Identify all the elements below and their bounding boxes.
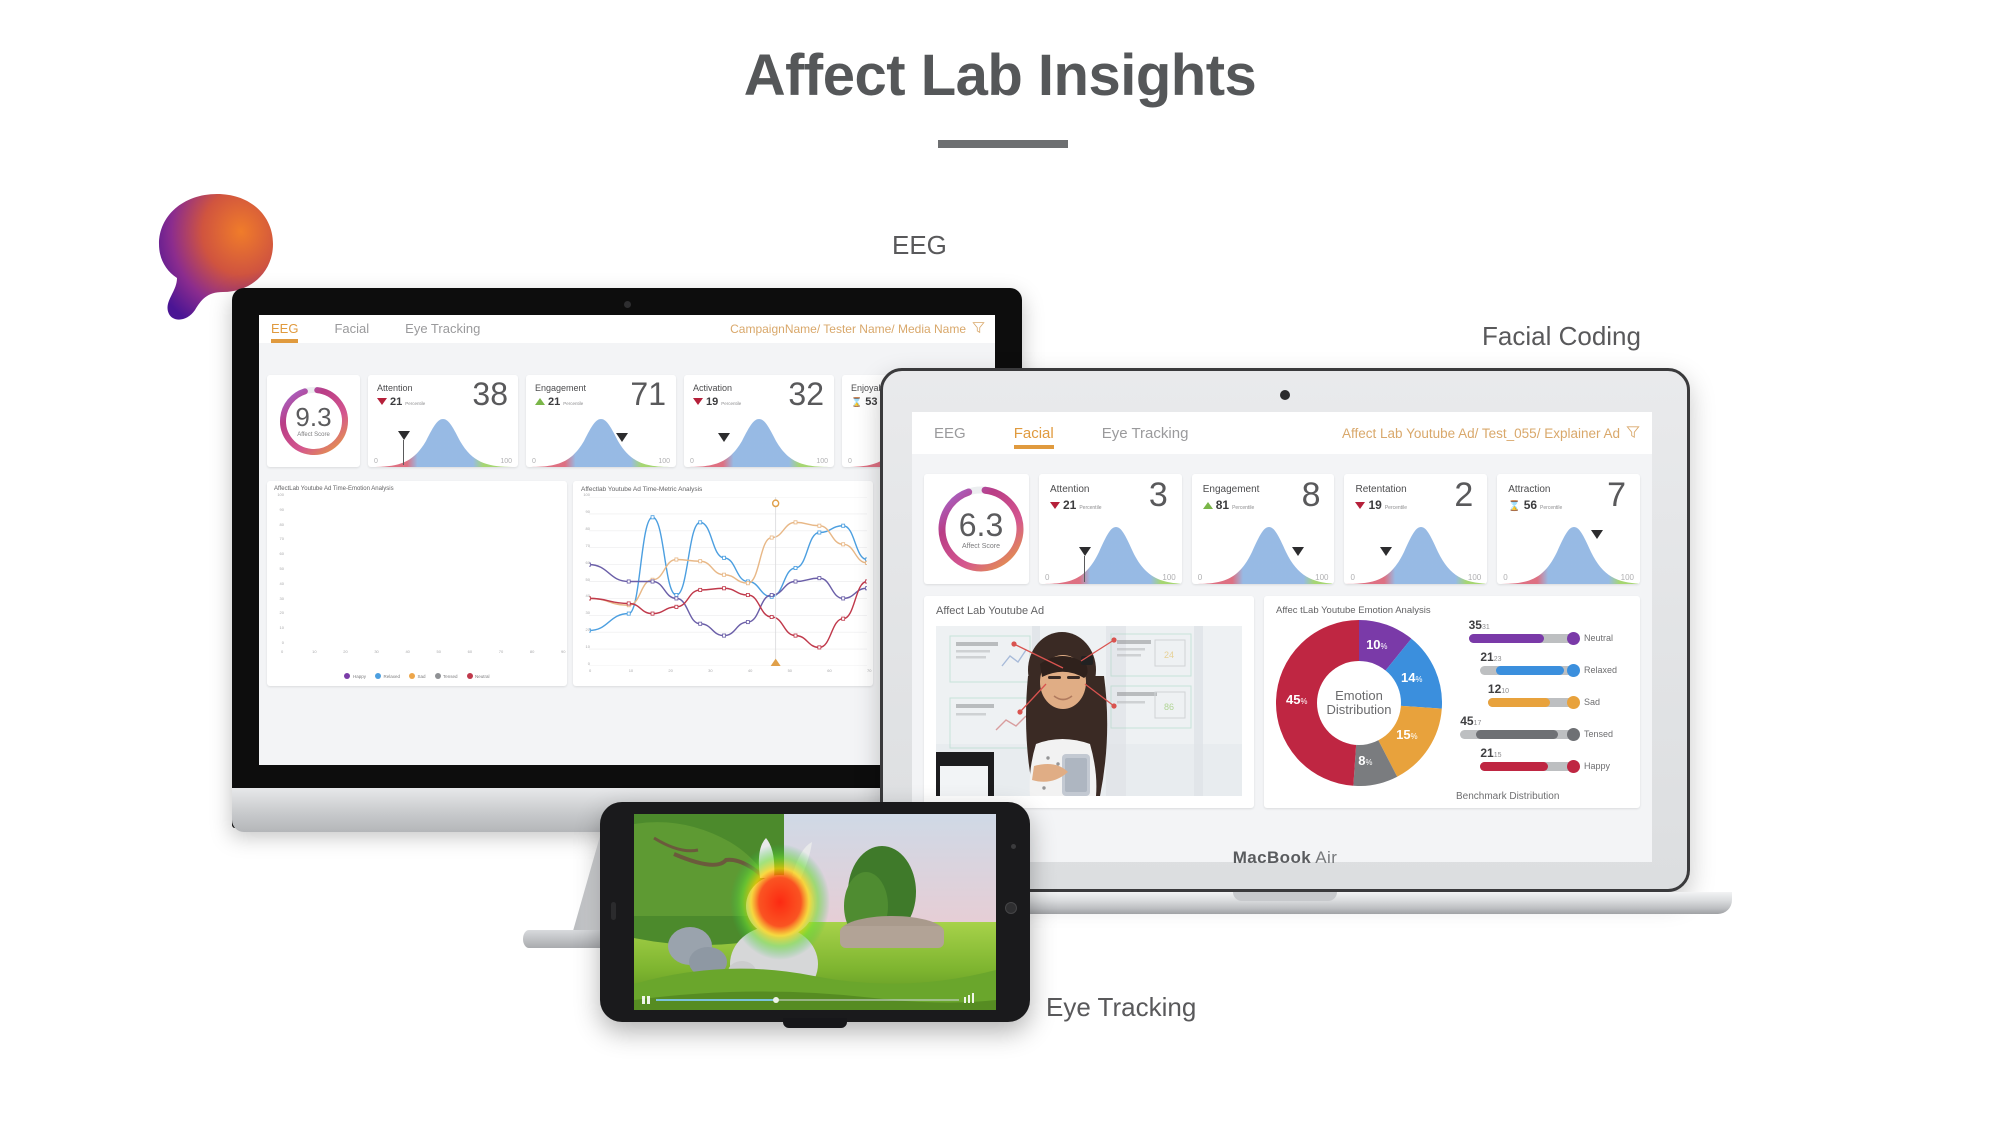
y-tick: 30 (586, 610, 590, 615)
legend-swatch (467, 673, 473, 679)
x-tick: 20 (343, 649, 347, 654)
emotion-panel-title: Affec tLab Youtube Emotion Analysis (1276, 605, 1431, 616)
metric-delta-value: 53 (865, 396, 877, 408)
tab-eeg[interactable]: EEG (934, 425, 966, 442)
x-tick: 10 (629, 668, 633, 673)
legend-swatch (435, 673, 441, 679)
metric-delta-value: 81 (1216, 498, 1229, 512)
x-tick: 50 (437, 649, 441, 654)
benchmark-fill (1496, 666, 1563, 675)
axis-min-label: 0 (1045, 573, 1049, 582)
benchmark-fill (1476, 730, 1558, 739)
metric-delta-value: 19 (706, 396, 718, 408)
benchmark-label: Relaxed (1584, 665, 1617, 675)
tab-eye-tracking[interactable]: Eye Tracking (1102, 425, 1189, 442)
metric-value: 7 (1607, 480, 1626, 511)
affect-score-label: Affect Score (962, 543, 1000, 550)
y-tick: 80 (280, 522, 284, 527)
phone-earpiece-icon (611, 902, 616, 920)
phone-front-camera-icon (1011, 844, 1016, 849)
metric-delta-value: 56 (1524, 498, 1537, 512)
macbook-camera-icon (1280, 390, 1290, 400)
tab-eeg[interactable]: EEG (271, 321, 298, 336)
chart-legend: HappyRelaxedSadTensedNeutral (267, 673, 567, 679)
metric-delta-sub: Percentile (563, 401, 583, 406)
legend-swatch (409, 673, 415, 679)
macbook-model: Air (1315, 848, 1337, 867)
x-tick: 80 (530, 649, 534, 654)
y-tick: 40 (586, 593, 590, 598)
macbook-screen: EEG Facial Eye Tracking Affect Lab Youtu… (912, 412, 1652, 862)
legend-item: Happy (344, 673, 366, 679)
benchmark-cap (1567, 632, 1580, 645)
axis-max-label: 100 (1162, 573, 1175, 582)
metric-delta: 19 Percentile (1355, 498, 1407, 512)
donut-slice-label: 8% (1358, 753, 1372, 768)
x-tick: 30 (374, 649, 378, 654)
axis-min-label: 0 (1503, 573, 1507, 582)
breadcrumb-text: Affect Lab Youtube Ad/ Test_055/ Explain… (1342, 426, 1620, 441)
metric-delta: 21 Percentile (535, 396, 583, 408)
chart-title: Affectlab Youtube Ad Time-Metric Analysi… (581, 486, 702, 493)
phone-home-button[interactable] (1005, 902, 1017, 914)
benchmark-caption: Benchmark Distribution (1456, 791, 1559, 802)
axis-min-label: 0 (690, 458, 694, 465)
affect-score-value-wrap: 6.3 Affect Score (948, 496, 1014, 562)
affect-score-card: 9.3 Affect Score (267, 375, 360, 467)
benchmark-reference: 23 (1494, 656, 1502, 663)
dashboard-topbar: EEG Facial Eye Tracking Affect Lab Youtu… (912, 412, 1652, 454)
benchmark-fill (1488, 698, 1550, 707)
affect-score-value: 6.3 (959, 509, 1003, 541)
benchmark-reference: 15 (1494, 752, 1502, 759)
legend-label: Relaxed (383, 674, 400, 679)
metric-delta-value: 19 (1368, 498, 1381, 512)
page-title: Affect Lab Insights (0, 42, 2000, 109)
x-tick: 10 (312, 649, 316, 654)
video-panel: Affect Lab Youtube Ad (924, 596, 1254, 808)
metric-delta: 19 Percentile (693, 396, 741, 408)
legend-item: Relaxed (375, 673, 400, 679)
metric-delta: ⌛ 56 Percentile (1508, 498, 1562, 512)
metric-card-attraction[interactable]: Attraction ⌛ 56 Percentile 7 0 1 (1497, 474, 1640, 584)
y-tick: 20 (280, 610, 284, 615)
benchmark-cap (1567, 664, 1580, 677)
x-tick: 40 (748, 668, 752, 673)
metric-value: 3 (1149, 480, 1168, 511)
metric-delta: 21 Percentile (377, 396, 425, 408)
y-tick: 50 (586, 577, 590, 582)
metric-card-activation[interactable]: Activation 19 Percentile 32 0 1 (684, 375, 834, 467)
benchmark-label: Neutral (1584, 633, 1613, 643)
tab-facial[interactable]: Facial (334, 321, 369, 336)
y-tick: 60 (280, 551, 284, 556)
distribution-curve: 0 100 (1497, 522, 1640, 584)
metric-delta-sub: Percentile (721, 401, 741, 406)
y-axis-ticks: 0102030405060708090100 (269, 497, 285, 645)
benchmark-value: 3531 (1469, 618, 1490, 632)
phone-bottom-connector (783, 1018, 847, 1028)
metric-delta-sub: Percentile (1385, 505, 1407, 511)
donut-slice-label: 15% (1396, 727, 1417, 742)
metric-card-engagement[interactable]: Engagement 21 Percentile 71 0 1 (526, 375, 676, 467)
benchmark-label: Sad (1584, 697, 1600, 707)
benchmark-cap (1567, 728, 1580, 741)
distribution-curve: 0 100 (526, 415, 676, 467)
x-tick: 0 (589, 668, 591, 673)
callout-label-eeg: EEG (892, 230, 947, 261)
value-marker (1591, 530, 1603, 539)
axis-min-label: 0 (1198, 573, 1202, 582)
benchmark-cap (1567, 696, 1580, 709)
x-tick: 40 (405, 649, 409, 654)
callout-label-facial-coding: Facial Coding (1482, 321, 1641, 352)
metric-value: 2 (1454, 480, 1473, 511)
metric-delta-value: 21 (548, 396, 560, 408)
metric-name: Attraction (1508, 484, 1550, 495)
x-tick: 70 (867, 668, 871, 673)
metric-name: Engagement (1203, 484, 1260, 495)
svg-text:24: 24 (1164, 650, 1174, 660)
benchmark-row: 2115 Happy (1456, 746, 1634, 778)
y-tick: 10 (280, 625, 284, 630)
macbook-brand: MacBook (1233, 848, 1311, 867)
axis-max-label: 100 (1315, 573, 1328, 582)
trend-up-icon (1203, 502, 1213, 509)
affect-score-ring: 9.3 Affect Score (267, 375, 360, 467)
affect-score-value: 9.3 (295, 404, 331, 430)
axis-min-label: 0 (374, 458, 378, 465)
metric-card-attention[interactable]: Attention 21 Percentile 3 0 (1039, 474, 1182, 584)
benchmark-value: 2115 (1480, 746, 1501, 760)
x-axis-ticks: 0102030405060708090 (281, 649, 561, 659)
time-metric-chart-panel: Affectlab Youtube Ad Time-Metric Analysi… (573, 481, 873, 686)
metric-delta-value: 21 (1063, 498, 1076, 512)
hourglass-flat-icon: ⌛ (851, 397, 862, 408)
metric-delta-sub: Percentile (405, 401, 425, 406)
axis-max-label: 100 (1621, 573, 1634, 582)
donut-center-label: Emotion Distribution (1317, 661, 1401, 745)
metric-delta-value: 21 (390, 396, 402, 408)
metric-value: 71 (630, 380, 666, 409)
x-tick: 70 (499, 649, 503, 654)
metric-delta-sub: Percentile (1079, 505, 1101, 511)
trend-down-icon (693, 398, 703, 405)
tab-facial[interactable]: Facial (1014, 425, 1054, 442)
donut-center-line2: Distribution (1326, 702, 1391, 717)
donut-slice-label: 45% (1286, 692, 1307, 707)
y-tick: 50 (280, 566, 284, 571)
value-marker (1292, 547, 1304, 556)
y-tick: 90 (280, 507, 284, 512)
svg-text:86: 86 (1164, 702, 1174, 712)
y-tick: 40 (280, 581, 284, 586)
axis-min-label: 0 (1350, 573, 1354, 582)
benchmark-value: 1210 (1488, 682, 1509, 696)
value-marker-line (403, 440, 404, 465)
poster-canvas: Affect Lab Insights EEG Facial Coding Ey… (0, 0, 2000, 1125)
trend-down-icon (1050, 502, 1060, 509)
phone-screen[interactable] (634, 814, 996, 1010)
metric-delta-sub: Percentile (1232, 505, 1254, 511)
metric-delta: 21 Percentile (1050, 498, 1102, 512)
y-tick: 60 (586, 560, 590, 565)
y-tick: 70 (586, 543, 590, 548)
metric-name: Activation (693, 383, 732, 393)
legend-label: Neutral (475, 674, 490, 679)
x-tick: 90 (561, 649, 565, 654)
value-marker (616, 433, 628, 442)
benchmark-label: Happy (1584, 761, 1610, 771)
x-tick: 50 (788, 668, 792, 673)
axis-min-label: 0 (532, 458, 536, 465)
distribution-curve: 0 100 (1192, 522, 1335, 584)
donut-slice-label: 10% (1366, 637, 1387, 652)
y-tick: 0 (282, 640, 284, 645)
benchmark-row: 3531 Neutral (1456, 618, 1634, 650)
benchmark-label: Tensed (1584, 729, 1613, 739)
value-marker (1079, 547, 1091, 556)
y-tick: 30 (280, 596, 284, 601)
chart-title: AffectLab Youtube Ad Time-Emotion Analys… (274, 486, 394, 492)
y-tick: 70 (280, 536, 284, 541)
donut-center-line1: Emotion (1335, 688, 1383, 703)
eye-tracking-heatmap-video-frame (634, 814, 996, 1010)
legend-label: Happy (353, 674, 366, 679)
y-tick: 10 (586, 644, 590, 649)
x-tick: 20 (668, 668, 672, 673)
y-tick: 100 (277, 492, 284, 497)
trend-up-icon (535, 398, 545, 405)
metric-name: Attention (1050, 484, 1089, 495)
axis-min-label: 0 (848, 458, 852, 465)
callout-label-eye-tracking: Eye Tracking (1046, 992, 1196, 1023)
metric-value: 32 (788, 380, 824, 409)
breadcrumb-text: CampaignName/ Tester Name/ Media Name (730, 322, 966, 336)
metric-card-engagement[interactable]: Engagement 81 Percentile 8 0 10 (1192, 474, 1335, 584)
hourglass-flat-icon: ⌛ (1508, 501, 1520, 512)
stacked-bar-plot (281, 497, 561, 645)
y-tick: 0 (588, 661, 590, 666)
trend-down-icon (377, 398, 387, 405)
macbook-notch (1233, 892, 1337, 901)
benchmark-reference: 31 (1482, 624, 1490, 631)
axis-max-label: 100 (816, 458, 828, 465)
imac-camera-icon (624, 301, 631, 308)
y-tick: 20 (586, 627, 590, 632)
affect-score-value-wrap: 9.3 Affect Score (288, 395, 340, 447)
x-axis-ticks: 010203040506070 (589, 668, 867, 678)
video-panel-title: Affect Lab Youtube Ad (936, 605, 1044, 617)
metric-card-retentation[interactable]: Retentation 19 Percentile 2 0 1 (1344, 474, 1487, 584)
axis-max-label: 100 (658, 458, 670, 465)
line-plot (589, 497, 867, 666)
eye-tracking-phone-device (600, 802, 1030, 1022)
y-tick: 100 (583, 492, 590, 497)
benchmark-row: 1210 Sad (1456, 682, 1634, 714)
title-divider (938, 140, 1068, 148)
affect-score-label: Affect Score (297, 432, 330, 438)
x-tick: 30 (708, 668, 712, 673)
value-marker-line (1084, 556, 1085, 582)
metric-delta: 81 Percentile (1203, 498, 1255, 512)
y-tick: 80 (586, 526, 590, 531)
metric-delta-sub: Percentile (1540, 505, 1562, 511)
axis-max-label: 100 (1468, 573, 1481, 582)
distribution-curve: 0 100 (368, 415, 518, 467)
emotion-panel: Affec tLab Youtube Emotion Analysis Emot… (1264, 596, 1640, 808)
time-emotion-chart-panel: AffectLab Youtube Ad Time-Emotion Analys… (267, 481, 567, 686)
legend-swatch (344, 673, 350, 679)
dashboard-topbar: EEG Facial Eye Tracking CampaignName/ Te… (259, 315, 995, 343)
benchmark-fill (1480, 762, 1547, 771)
metric-name: Engagement (535, 383, 586, 393)
distribution-curve: 0 100 (1344, 522, 1487, 584)
legend-item: Sad (409, 673, 426, 679)
trend-down-icon (1355, 502, 1365, 509)
facial-dashboard: EEG Facial Eye Tracking Affect Lab Youtu… (912, 412, 1652, 862)
y-tick: 90 (586, 509, 590, 514)
benchmark-reference: 10 (1501, 688, 1509, 695)
value-marker (1380, 547, 1392, 556)
facial-coding-webcam-feed[interactable]: 24 86 (936, 626, 1242, 796)
affect-score-ring: 6.3 Affect Score (924, 474, 1029, 584)
metric-value: 8 (1302, 480, 1321, 511)
y-axis-ticks: 0102030405060708090100 (575, 497, 591, 666)
metric-name: Attention (377, 383, 413, 393)
donut-slice-label: 14% (1401, 670, 1422, 685)
x-tick: 60 (468, 649, 472, 654)
value-marker (398, 431, 410, 440)
benchmark-value: 2123 (1480, 650, 1501, 664)
funnel-filter-icon[interactable] (972, 321, 985, 337)
distribution-curve: 0 100 (684, 415, 834, 467)
x-tick: 60 (827, 668, 831, 673)
distribution-curve: 0 100 (1039, 522, 1182, 584)
metric-name: Retentation (1355, 484, 1406, 495)
funnel-filter-icon[interactable] (1626, 425, 1640, 442)
dashboard-tabs: EEG Facial Eye Tracking (271, 315, 480, 343)
legend-item: Tensed (435, 673, 458, 679)
emotion-distribution-donut: Emotion Distribution 10%14%15%8%45% (1276, 620, 1442, 786)
affect-score-card: 6.3 Affect Score (924, 474, 1029, 584)
metric-card-attention[interactable]: Attention 21 Percentile 38 0 (368, 375, 518, 467)
tab-eye-tracking[interactable]: Eye Tracking (405, 321, 480, 336)
metric-value: 38 (472, 380, 508, 409)
dashboard-tabs: EEG Facial Eye Tracking (934, 412, 1188, 454)
benchmark-reference: 17 (1474, 720, 1482, 727)
legend-swatch (375, 673, 381, 679)
x-tick: 0 (281, 649, 283, 654)
benchmark-row: 2123 Relaxed (1456, 650, 1634, 682)
stacked-bars (281, 497, 561, 645)
benchmark-cap (1567, 760, 1580, 773)
breadcrumb[interactable]: Affect Lab Youtube Ad/ Test_055/ Explain… (1342, 425, 1640, 442)
value-marker (718, 433, 730, 442)
legend-item: Neutral (467, 673, 490, 679)
legend-label: Sad (417, 674, 425, 679)
metric-cards-row: 6.3 Affect Score Attention 21 Percentile (924, 474, 1640, 584)
breadcrumb[interactable]: CampaignName/ Tester Name/ Media Name (730, 321, 985, 337)
legend-label: Tensed (443, 674, 458, 679)
benchmark-value: 4517 (1460, 714, 1481, 728)
benchmark-bars: 3531 Neutral2123 Relaxed1210 Sad4517 Ten… (1456, 618, 1634, 778)
axis-max-label: 100 (500, 458, 512, 465)
benchmark-fill (1469, 634, 1545, 643)
benchmark-row: 4517 Tensed (1456, 714, 1634, 746)
